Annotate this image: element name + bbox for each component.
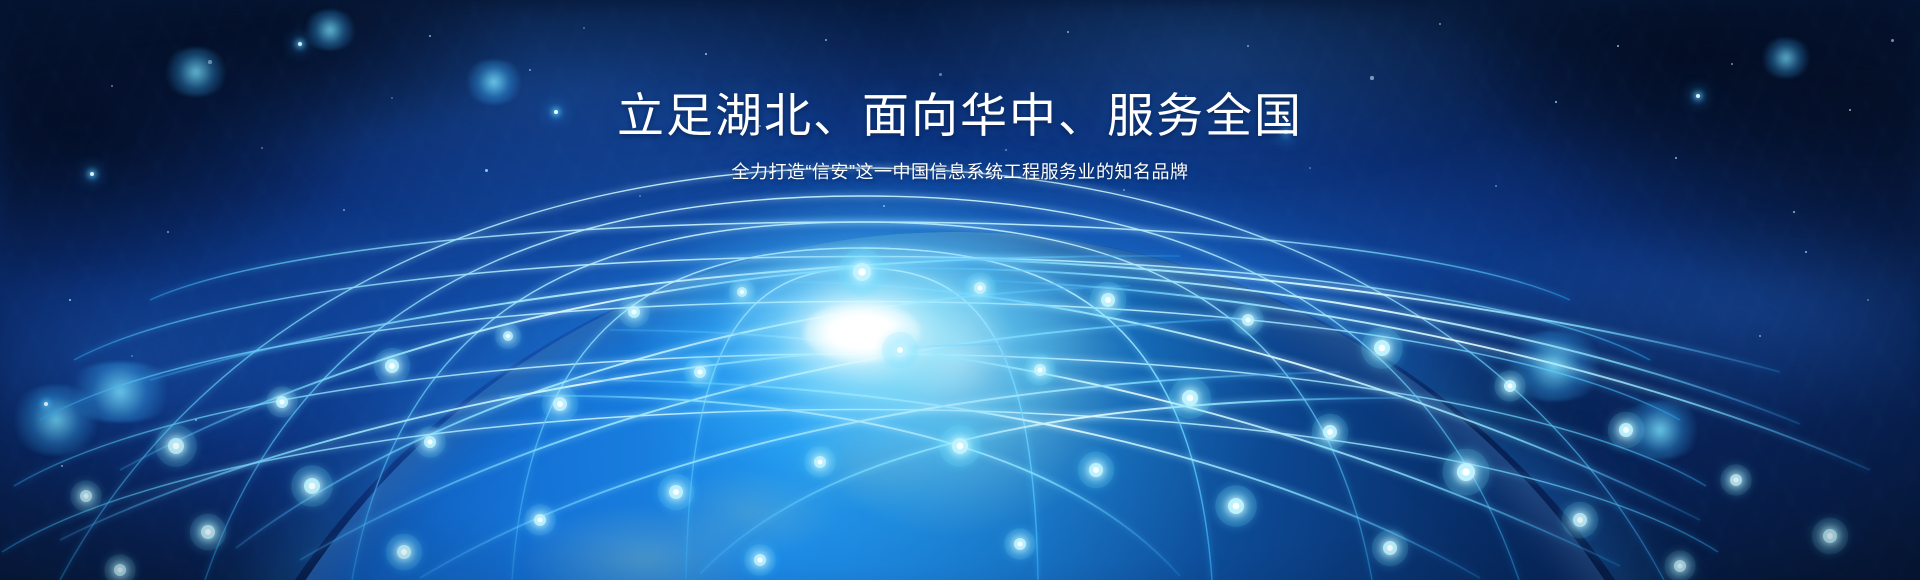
banner-headline: 立足湖北、面向华中、服务全国	[0, 88, 1920, 143]
hero-banner: 立足湖北、面向华中、服务全国 全力打造“信安”这一中国信息系统工程服务业的知名品…	[0, 0, 1920, 580]
banner-text-block: 立足湖北、面向华中、服务全国 全力打造“信安”这一中国信息系统工程服务业的知名品…	[0, 88, 1920, 186]
banner-subheadline: 全力打造“信安”这一中国信息系统工程服务业的知名品牌	[0, 159, 1920, 186]
